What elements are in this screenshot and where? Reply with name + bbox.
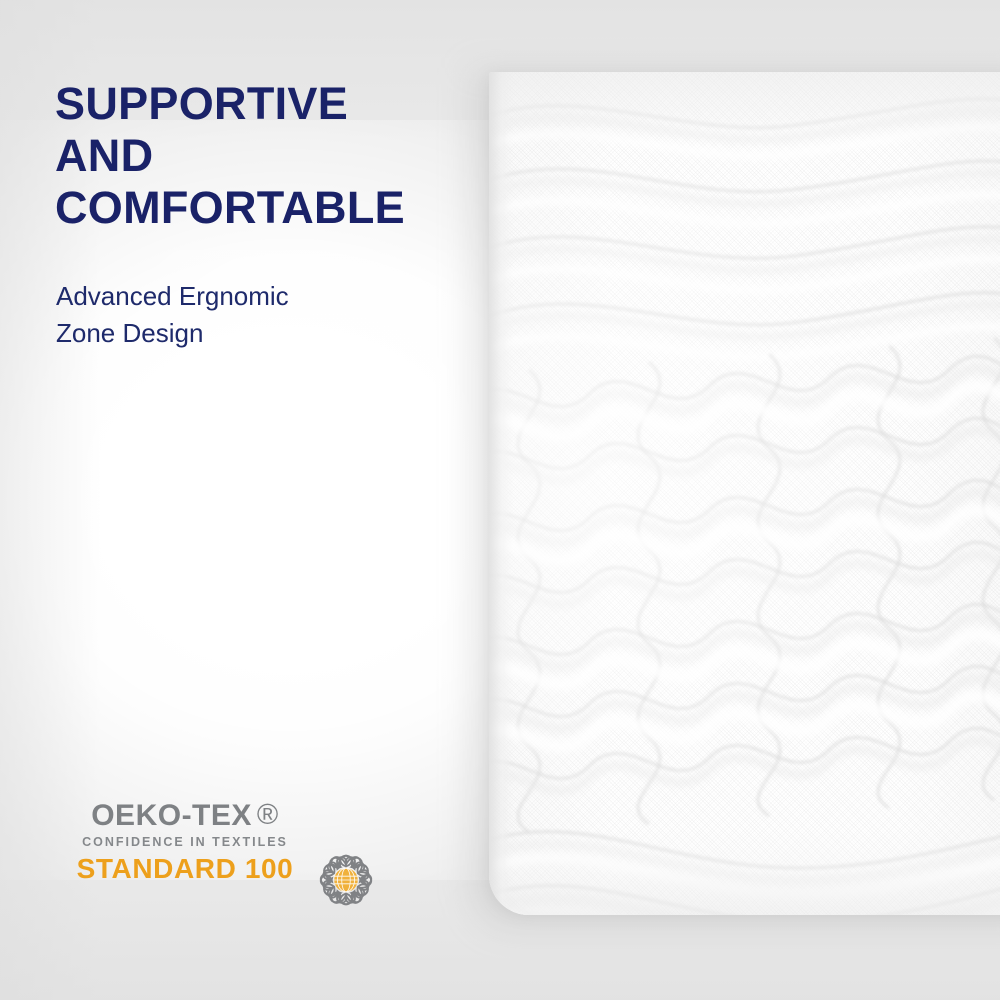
oeko-tex-certification-badge: OEKO-TEX® CONFIDENCE IN TEXTILES STANDAR… [60, 800, 400, 920]
badge-brand-label: OEKO-TEX [91, 799, 252, 832]
globe-icon [334, 868, 358, 892]
badge-standard-label: STANDARD 100 [60, 853, 310, 885]
page-title: SUPPORTIVE AND COMFORTABLE [55, 78, 485, 235]
registered-trademark-icon: ® [257, 799, 279, 831]
oeko-tex-loop-emblem-icon [308, 842, 384, 918]
page-subtitle: Advanced Ergnomic Zone Design [56, 278, 456, 352]
marketing-banner: SUPPORTIVE AND COMFORTABLE Advanced Ergn… [0, 0, 1000, 1000]
badge-text-column: OEKO-TEX® CONFIDENCE IN TEXTILES STANDAR… [60, 800, 310, 885]
badge-brand-name: OEKO-TEX® [60, 800, 310, 832]
badge-tagline: CONFIDENCE IN TEXTILES [60, 835, 310, 849]
